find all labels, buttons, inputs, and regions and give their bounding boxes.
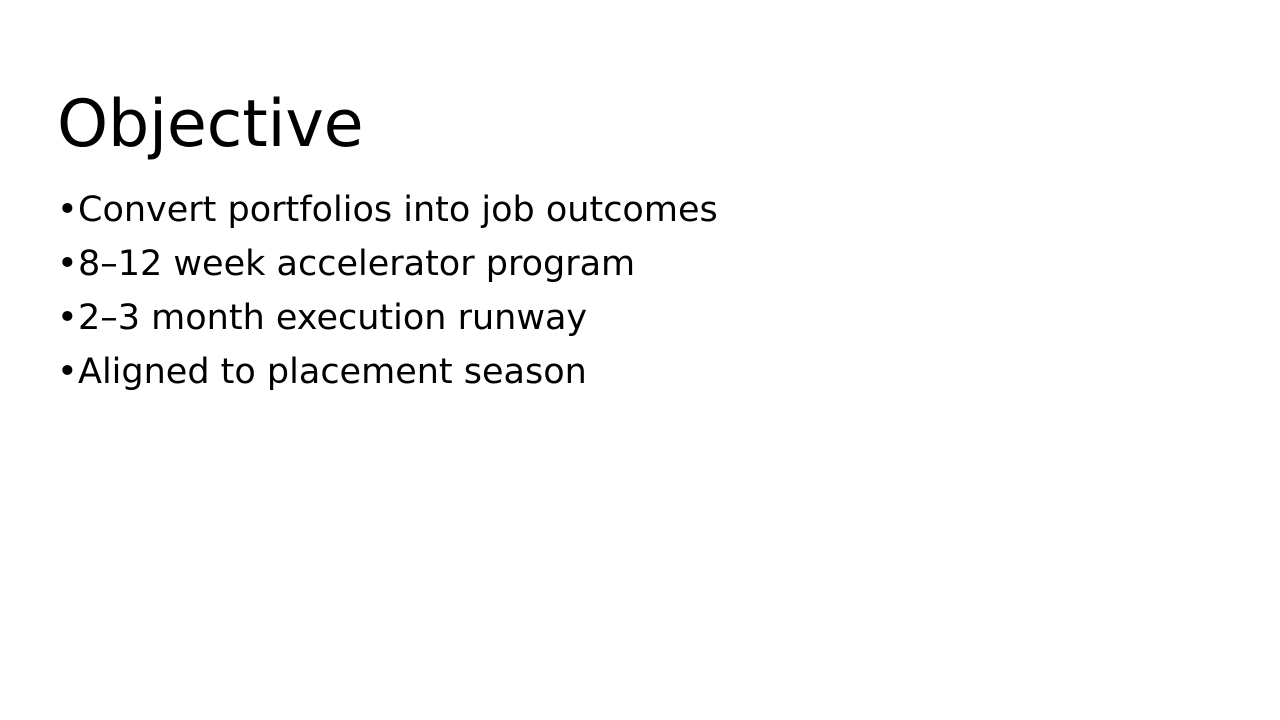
list-item-label: 2–3 month execution runway <box>78 291 587 345</box>
list-item: • 2–3 month execution runway <box>57 291 1217 345</box>
slide-canvas: Objective • Convert portfolios into job … <box>0 0 1280 720</box>
list-item: • 8–12 week accelerator program <box>57 237 1217 291</box>
list-item: • Aligned to placement season <box>57 345 1217 399</box>
bullet-dot-icon: • <box>57 183 78 237</box>
list-item: • Convert portfolios into job outcomes <box>57 183 1217 237</box>
bullet-dot-icon: • <box>57 345 78 399</box>
bullet-dot-icon: • <box>57 291 78 345</box>
bullet-list: • Convert portfolios into job outcomes •… <box>57 183 1217 399</box>
list-item-label: Convert portfolios into job outcomes <box>78 183 718 237</box>
list-item-label: Aligned to placement season <box>78 345 587 399</box>
bullet-dot-icon: • <box>57 237 78 291</box>
page-title: Objective <box>57 92 363 157</box>
list-item-label: 8–12 week accelerator program <box>78 237 635 291</box>
